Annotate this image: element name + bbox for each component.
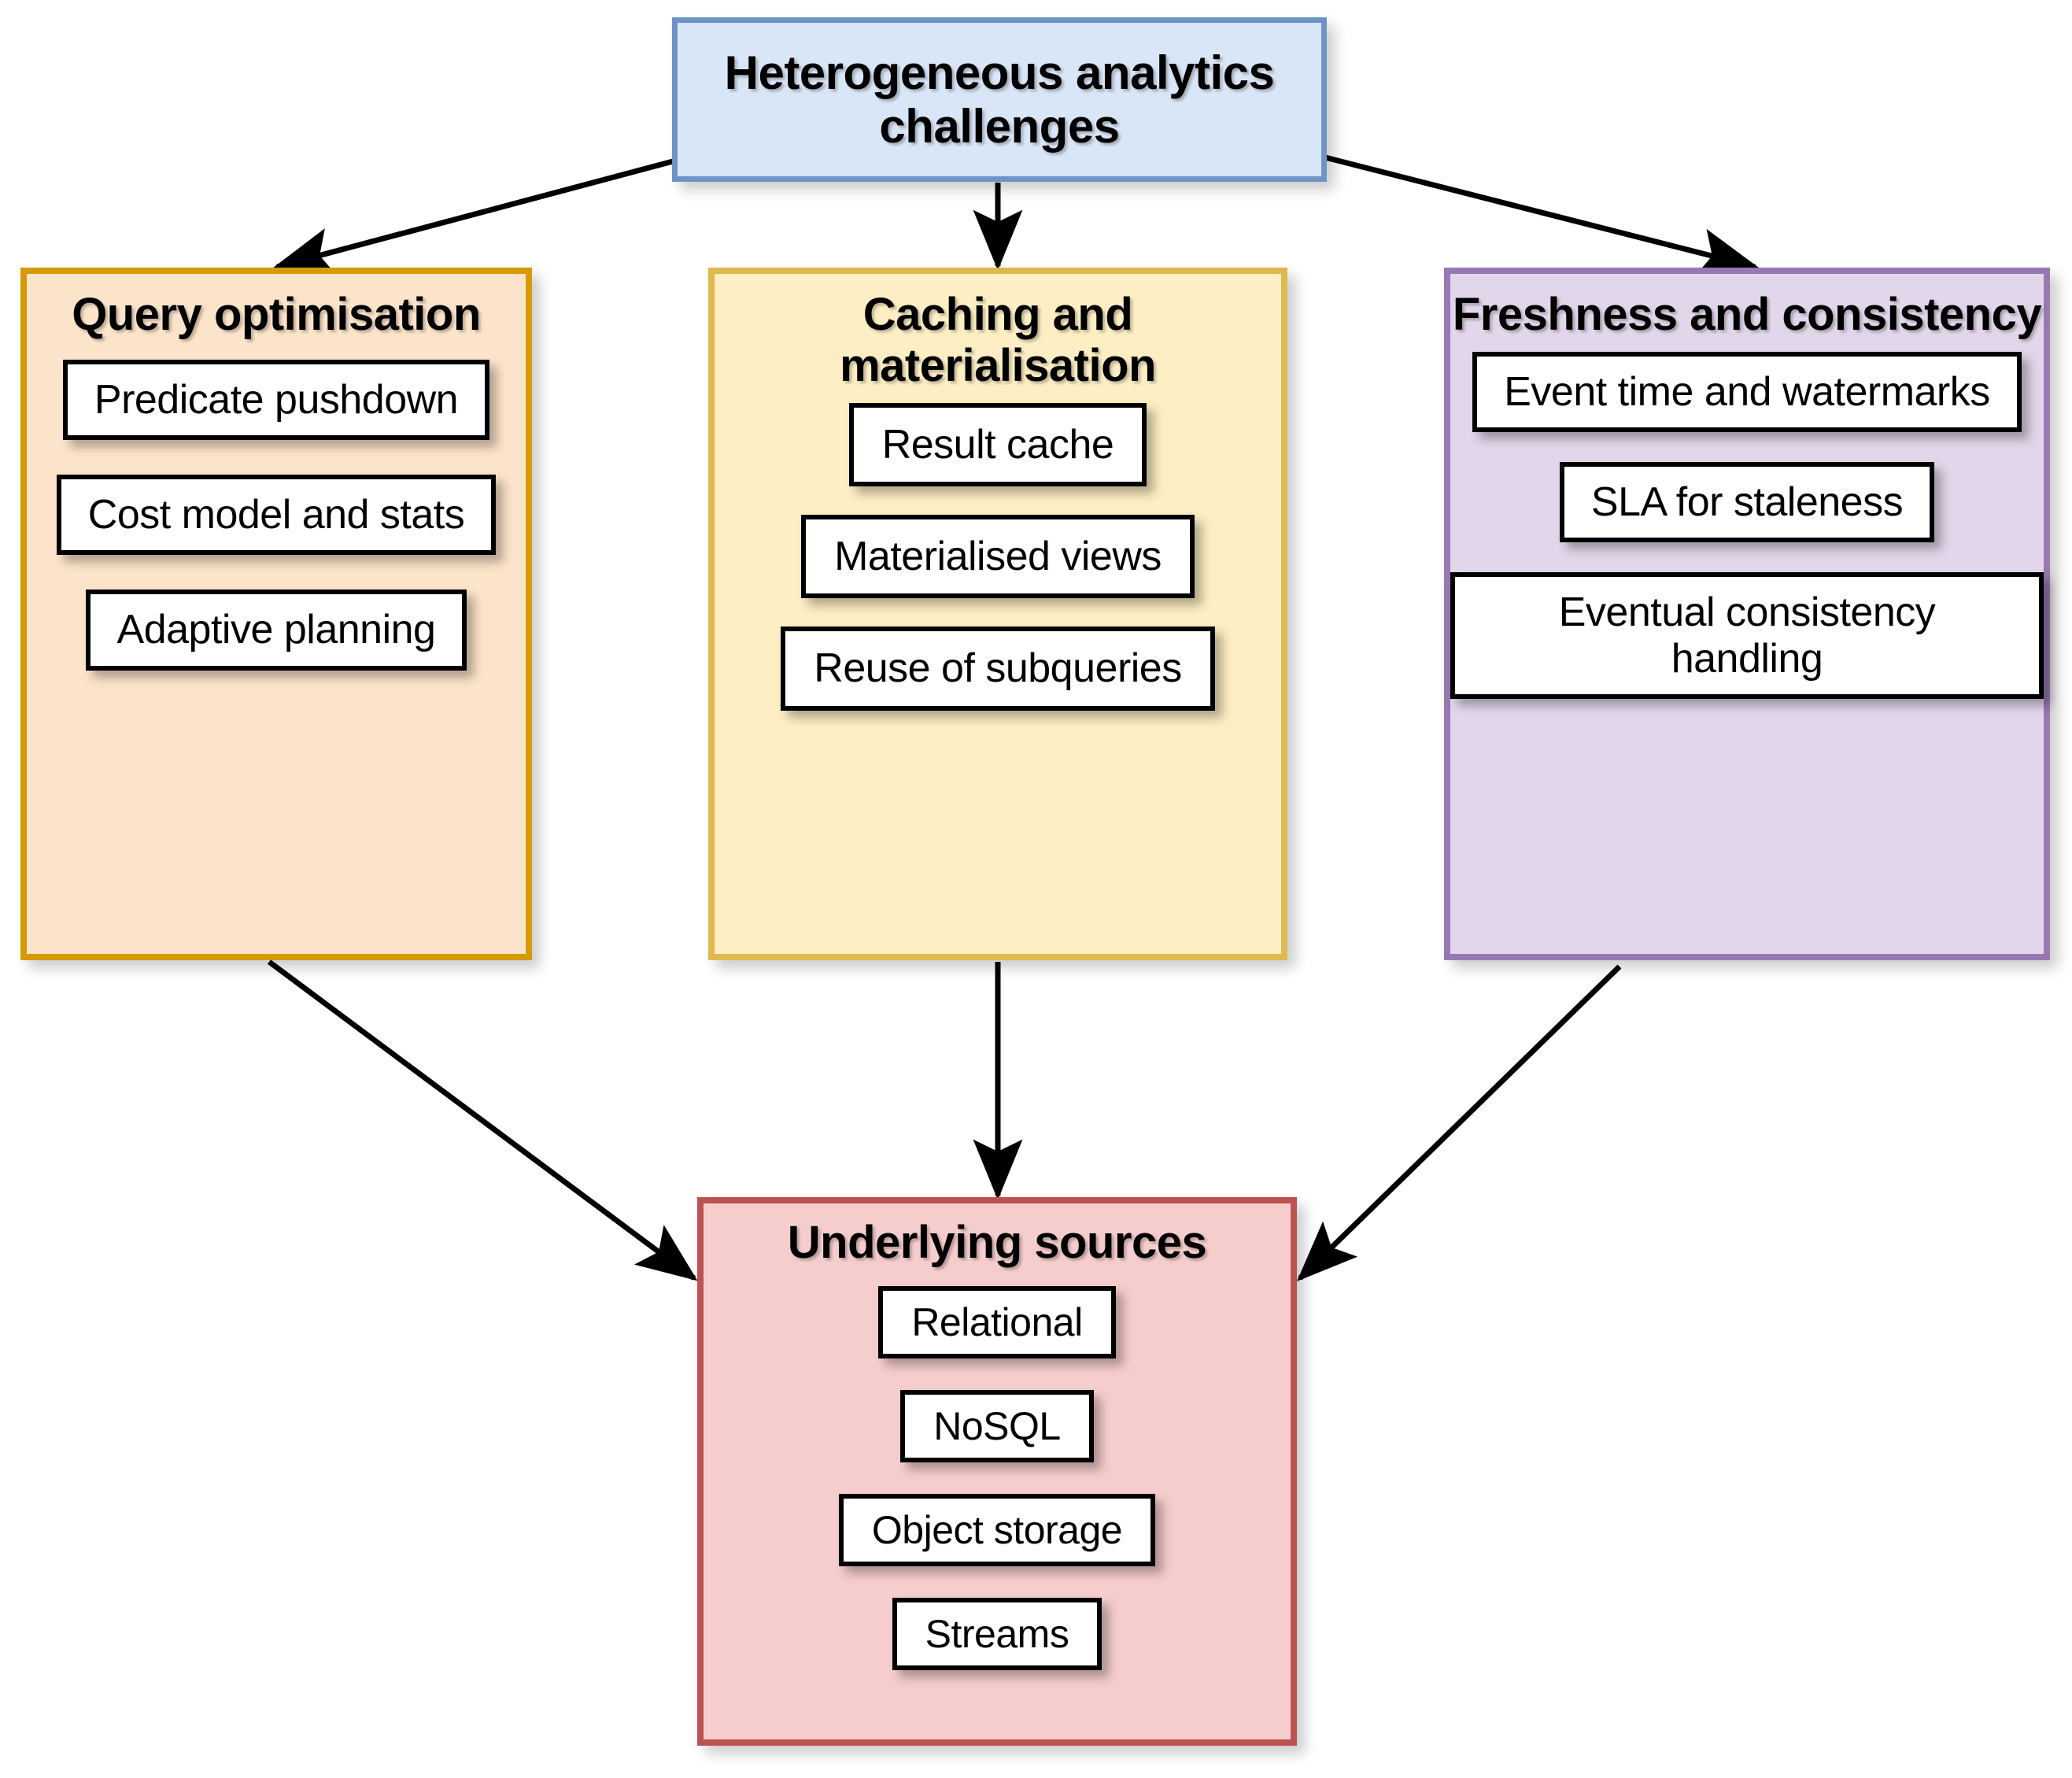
group-caching-and-materialisation[interactable]: Caching and materialisation Result cache… [708,268,1287,960]
item-relational[interactable]: Relational [878,1286,1115,1358]
group-query-optimisation-items: Predicate pushdown Cost model and stats … [27,341,526,671]
item-event-time-and-watermarks[interactable]: Event time and watermarks [1472,352,2022,432]
edge-root-to-freshness [1325,157,1755,267]
group-freshness-and-consistency-items: Event time and watermarks SLA for stalen… [1450,341,2044,699]
item-eventual-consistency-handling[interactable]: Eventual consistency handling [1450,572,2044,698]
item-cost-model-and-stats[interactable]: Cost model and stats [57,475,496,555]
diagram-canvas: Heterogeneous analytics challenges Query… [0,0,2072,1778]
item-sla-for-staleness[interactable]: SLA for staleness [1560,462,1934,542]
edge-freshness-to-sources [1300,967,1620,1278]
item-nosql[interactable]: NoSQL [900,1390,1093,1462]
edge-query-to-sources [269,962,694,1278]
node-heterogeneous-analytics-challenges[interactable]: Heterogeneous analytics challenges [672,17,1327,182]
item-predicate-pushdown[interactable]: Predicate pushdown [63,360,489,440]
group-underlying-sources-items: Relational NoSQL Object storage Streams [704,1269,1291,1670]
group-caching-and-materialisation-items: Result cache Materialised views Reuse of… [715,392,1281,711]
item-streams[interactable]: Streams [892,1598,1102,1670]
item-object-storage[interactable]: Object storage [839,1494,1155,1566]
root-title: Heterogeneous analytics challenges [678,46,1321,152]
group-underlying-sources[interactable]: Underlying sources Relational NoSQL Obje… [697,1197,1297,1746]
group-query-optimisation[interactable]: Query optimisation Predicate pushdown Co… [20,268,532,960]
item-reuse-of-subqueries[interactable]: Reuse of subqueries [781,627,1214,710]
item-materialised-views[interactable]: Materialised views [801,515,1195,598]
group-freshness-and-consistency[interactable]: Freshness and consistency Event time and… [1444,268,2050,960]
group-freshness-and-consistency-title: Freshness and consistency [1450,290,2044,341]
item-adaptive-planning[interactable]: Adaptive planning [86,590,467,670]
group-underlying-sources-title: Underlying sources [704,1218,1291,1269]
group-query-optimisation-title: Query optimisation [27,290,526,341]
edge-root-to-query [277,161,673,267]
group-caching-and-materialisation-title: Caching and materialisation [715,290,1281,392]
item-result-cache[interactable]: Result cache [849,403,1147,486]
